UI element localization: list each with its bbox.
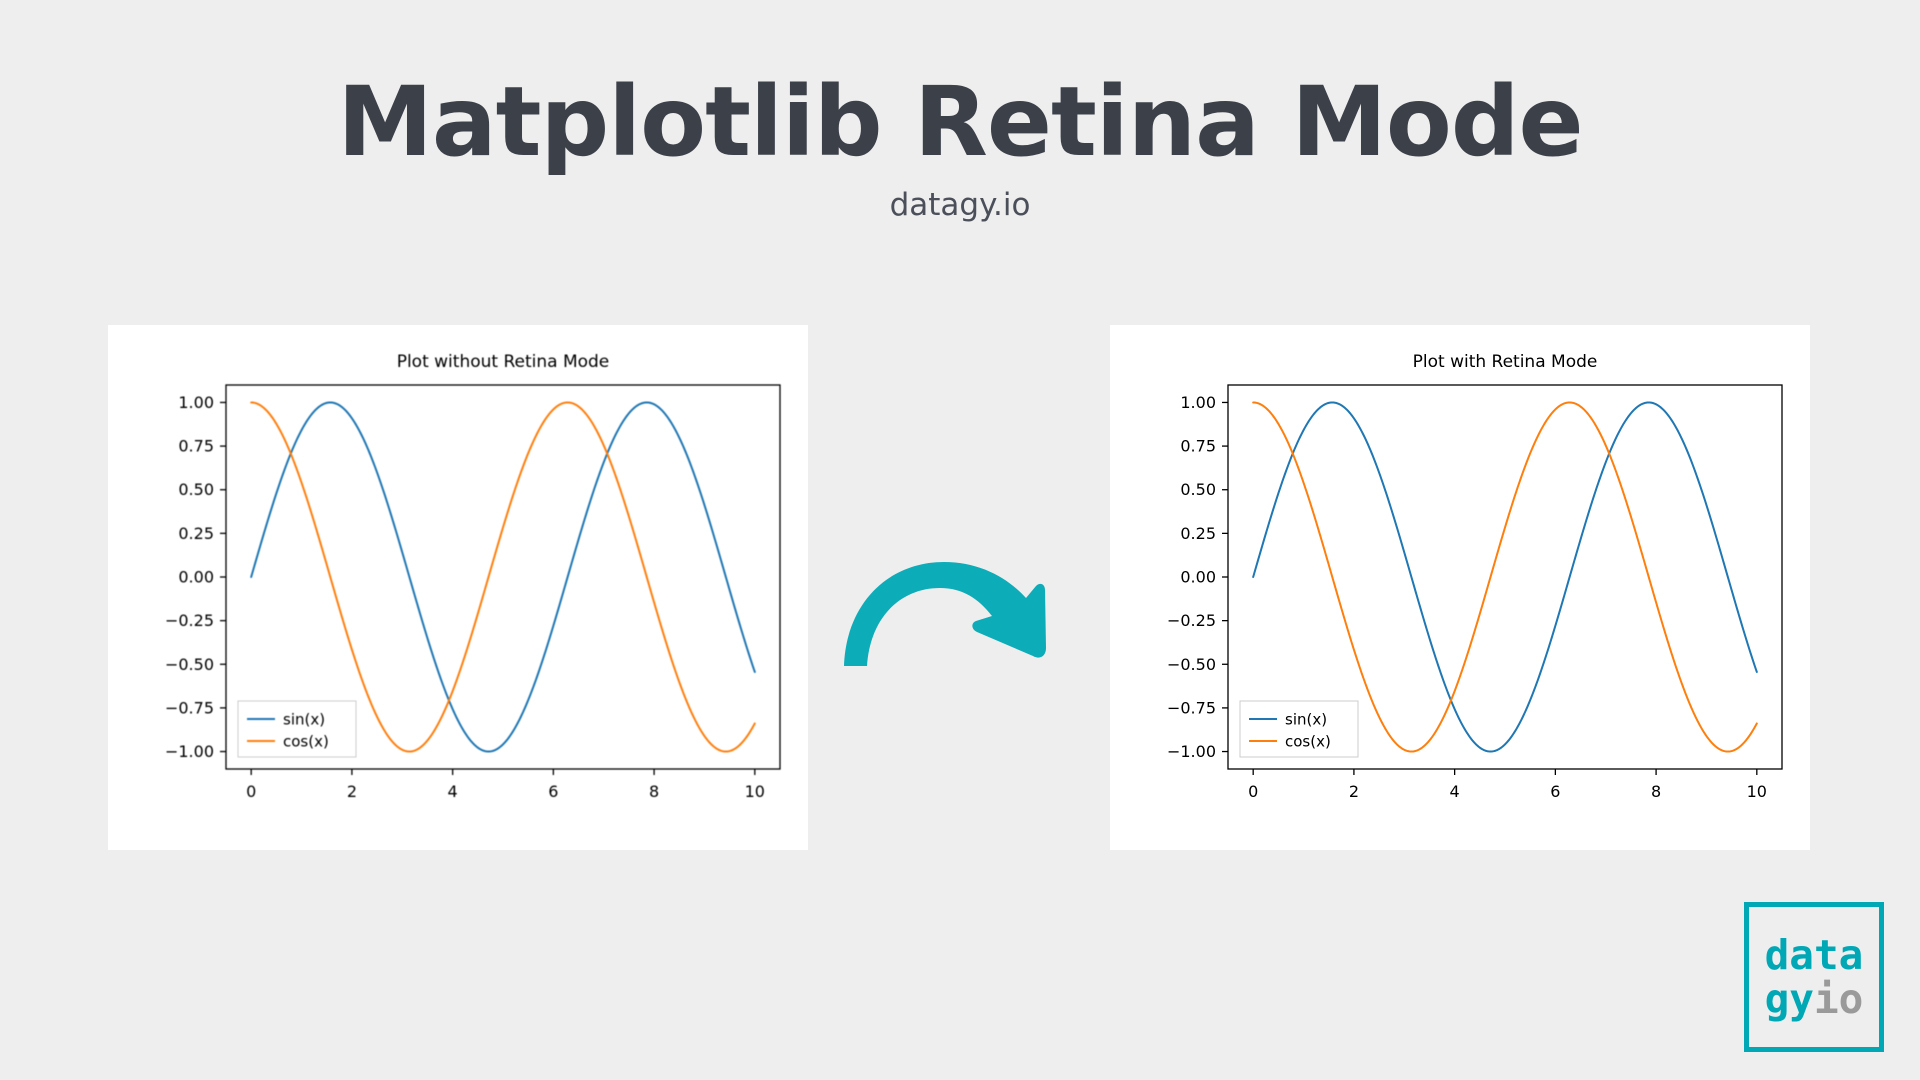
x-axis-tick-label: 2: [1349, 782, 1359, 801]
y-axis-tick-label: −0.50: [165, 655, 214, 674]
x-axis-tick-label: 10: [745, 782, 765, 801]
header: Matplotlib Retina Mode datagy.io: [0, 0, 1920, 223]
y-axis-tick-label: −0.25: [165, 611, 214, 630]
curved-arrow-right-icon: [840, 552, 1070, 672]
chart-legend: sin(x)cos(x): [1240, 701, 1358, 757]
page-subtitle: datagy.io: [0, 173, 1920, 223]
y-axis-tick-label: −0.75: [165, 698, 214, 717]
chart-line-sin: [251, 402, 755, 751]
brand-logo: data gyio: [1744, 902, 1884, 1052]
x-axis-tick-label: 4: [448, 782, 458, 801]
y-axis-tick-label: 0.75: [178, 437, 214, 456]
brand-logo-line-1: data: [1765, 933, 1864, 977]
page-title: Matplotlib Retina Mode: [0, 0, 1920, 173]
chart-line-cos: [1253, 402, 1757, 751]
brand-logo-line-2: gyio: [1765, 977, 1864, 1021]
chart-line-cos: [251, 402, 755, 751]
x-axis-tick-label: 0: [1248, 782, 1258, 801]
chart-legend: sin(x)cos(x): [238, 701, 356, 757]
chart-title: Plot without Retina Mode: [397, 352, 610, 372]
plot-card-with-retina: Plot with Retina Mode1.000.750.500.250.0…: [1110, 325, 1810, 850]
y-axis-tick-label: −1.00: [165, 742, 214, 761]
brand-logo-gy: gy: [1765, 975, 1814, 1023]
x-axis-tick-label: 0: [246, 782, 256, 801]
x-axis-tick-label: 4: [1450, 782, 1460, 801]
chart-legend-label: sin(x): [1285, 711, 1327, 729]
x-axis-tick-label: 2: [347, 782, 357, 801]
brand-logo-io: io: [1814, 975, 1863, 1023]
x-axis-tick-label: 8: [649, 782, 659, 801]
chart-legend-label: sin(x): [283, 711, 325, 729]
x-axis-tick-label: 8: [1651, 782, 1661, 801]
y-axis-tick-label: 0.25: [178, 524, 214, 543]
chart-legend-label: cos(x): [283, 733, 329, 751]
y-axis-tick-label: 0.50: [1180, 480, 1216, 499]
x-axis-tick-label: 6: [548, 782, 558, 801]
y-axis-tick-label: −0.50: [1167, 655, 1216, 674]
chart-line-sin: [1253, 402, 1757, 751]
chart-legend-label: cos(x): [1285, 733, 1331, 751]
y-axis-tick-label: 1.00: [178, 393, 214, 412]
y-axis-tick-label: 0.50: [178, 480, 214, 499]
y-axis-tick-label: 0.25: [1180, 524, 1216, 543]
y-axis-tick-label: 0.75: [1180, 437, 1216, 456]
chart-with-retina: Plot with Retina Mode1.000.750.500.250.0…: [1110, 325, 1810, 850]
y-axis-tick-label: 0.00: [178, 568, 214, 587]
chart-without-retina: Plot without Retina Mode1.000.750.500.25…: [108, 325, 808, 850]
y-axis-tick-label: 0.00: [1180, 568, 1216, 587]
plot-card-without-retina: Plot without Retina Mode1.000.750.500.25…: [108, 325, 808, 850]
y-axis-tick-label: −0.25: [1167, 611, 1216, 630]
x-axis-tick-label: 10: [1747, 782, 1767, 801]
chart-title: Plot with Retina Mode: [1413, 352, 1598, 372]
y-axis-tick-label: 1.00: [1180, 393, 1216, 412]
x-axis-tick-label: 6: [1550, 782, 1560, 801]
y-axis-tick-label: −1.00: [1167, 742, 1216, 761]
y-axis-tick-label: −0.75: [1167, 698, 1216, 717]
